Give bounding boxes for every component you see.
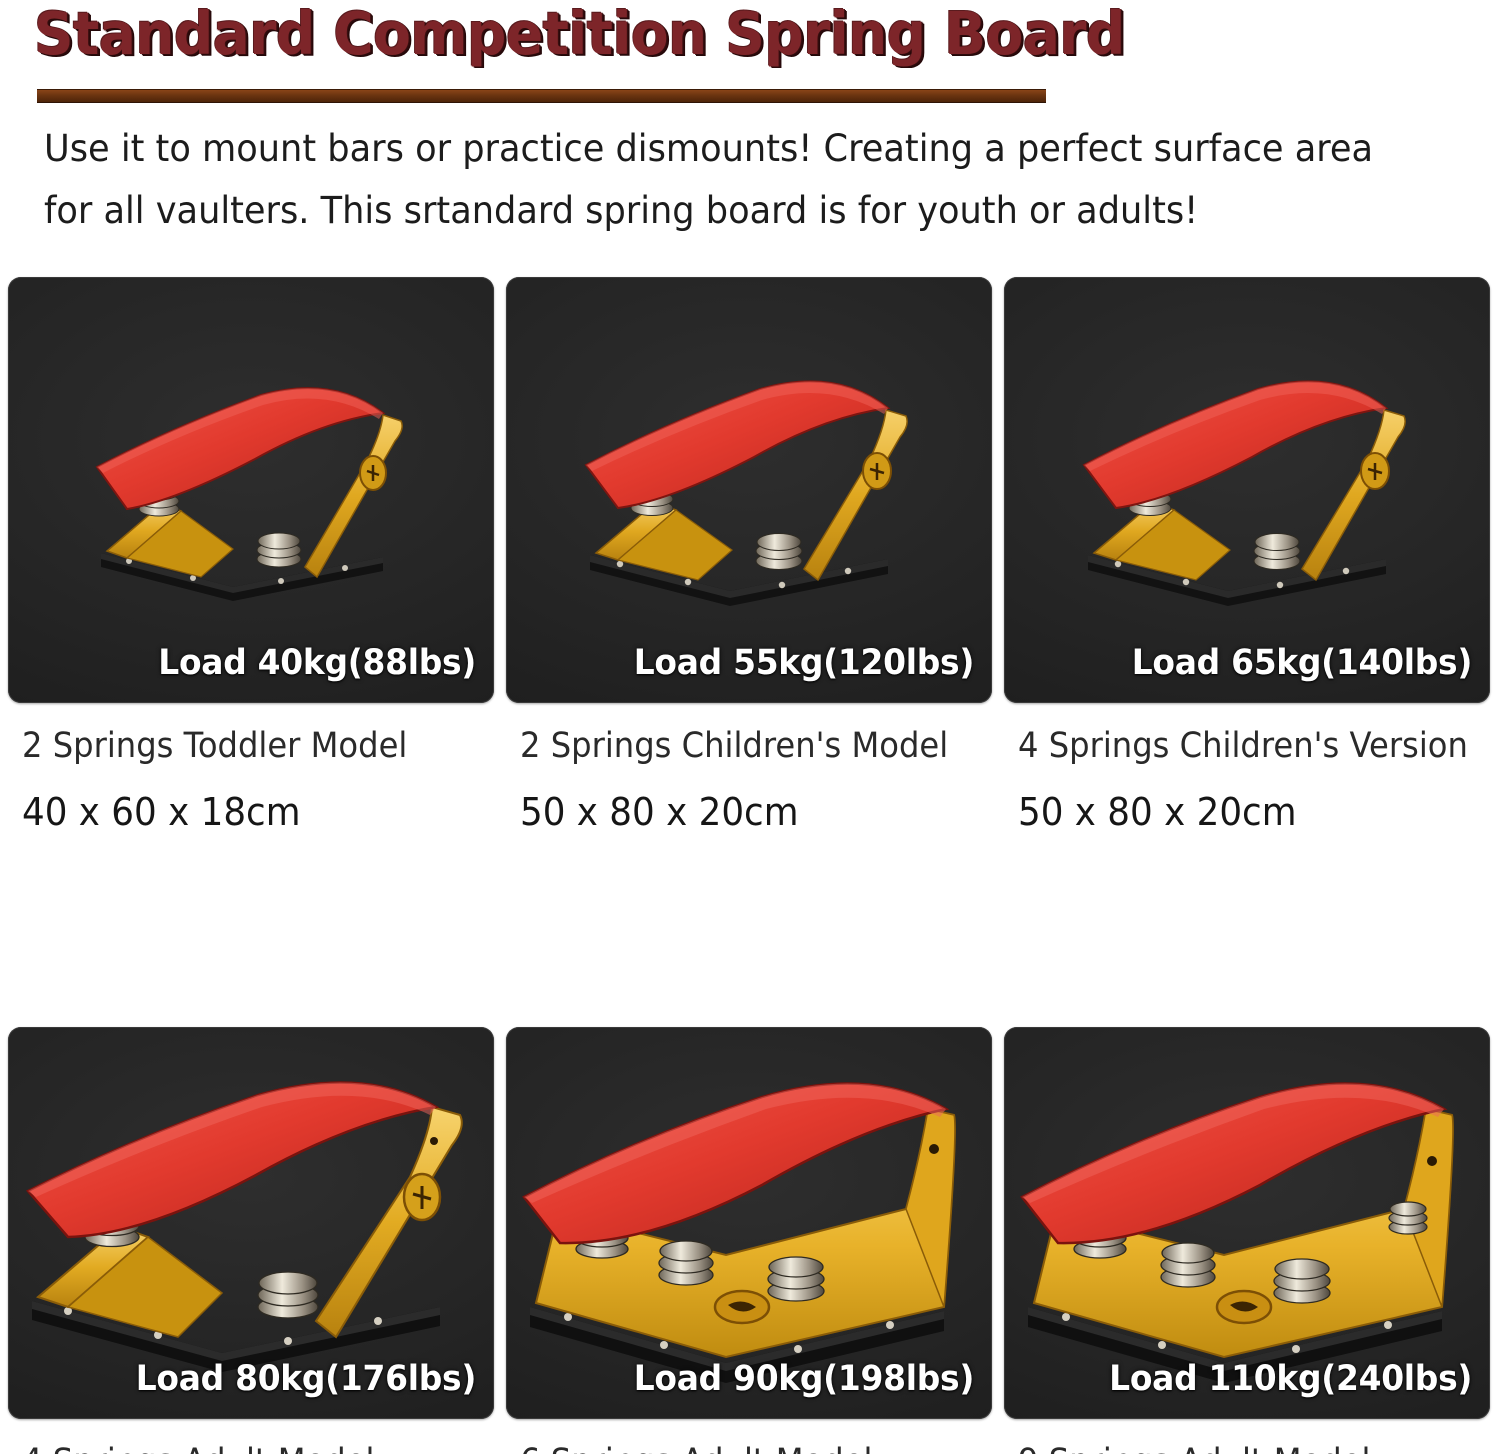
product-card-4[interactable]: Load 80kg(176lbs): [8, 1027, 494, 1419]
product-card-3[interactable]: Load 65kg(140lbs): [1004, 277, 1490, 703]
subtitle-line-1: Use it to mount bars or practice dismoun…: [44, 118, 1403, 180]
product-cell-4: Load 80kg(176lbs) 4 Springs Adult Model …: [8, 1027, 494, 1454]
product-caption-3: 4 Springs Children's Version 50 x 80 x 2…: [1004, 721, 1490, 837]
page-title: Standard Competition Spring Board: [34, 0, 1125, 72]
spring-board-image-4: [16, 1079, 486, 1389]
load-capacity-label-5: Load 90kg(198lbs): [634, 1359, 974, 1399]
dimensions-3: 50 x 80 x 20cm: [1018, 787, 1462, 837]
product-cell-1: Load 40kg(88lbs) 2 Springs Toddler Model…: [8, 277, 494, 837]
product-card-1[interactable]: Load 40kg(88lbs): [8, 277, 494, 703]
product-caption-5: 6 Springs Adult Model 120 x 60 x 26cm: [506, 1437, 992, 1454]
model-name-6: 9 Springs Adult Model: [1018, 1437, 1452, 1454]
dimensions-1: 40 x 60 x 18cm: [22, 787, 466, 837]
load-capacity-label-2: Load 55kg(120lbs): [634, 643, 974, 683]
model-name-4: 4 Springs Adult Model: [22, 1437, 456, 1454]
product-cell-2: Load 55kg(120lbs) 2 Springs Children's M…: [506, 277, 992, 837]
load-capacity-label-6: Load 110kg(240lbs): [1109, 1359, 1472, 1399]
load-capacity-label-3: Load 65kg(140lbs): [1132, 643, 1472, 683]
model-name-3: 4 Springs Children's Version: [1018, 721, 1452, 771]
model-name-5: 6 Springs Adult Model: [520, 1437, 954, 1454]
product-caption-1: 2 Springs Toddler Model 40 x 60 x 18cm: [8, 721, 494, 837]
product-row-top: Load 40kg(88lbs) 2 Springs Toddler Model…: [8, 277, 1492, 837]
product-caption-4: 4 Springs Adult Model 120 x 60 x 26cm: [8, 1437, 494, 1454]
product-cell-5: Load 90kg(198lbs) 6 Springs Adult Model …: [506, 1027, 992, 1454]
product-caption-2: 2 Springs Children's Model 50 x 80 x 20c…: [506, 721, 992, 837]
product-card-2[interactable]: Load 55kg(120lbs): [506, 277, 992, 703]
dimensions-2: 50 x 80 x 20cm: [520, 787, 964, 837]
load-capacity-label-1: Load 40kg(88lbs): [158, 643, 476, 683]
spring-board-image-5: [514, 1079, 984, 1389]
model-name-1: 2 Springs Toddler Model: [22, 721, 456, 771]
spring-board-image-2: [574, 375, 924, 625]
spring-board-image-3: [1072, 375, 1422, 625]
spring-board-image-6: [1012, 1079, 1482, 1389]
spring-board-image-1: [83, 381, 419, 621]
product-grid: Load 40kg(88lbs) 2 Springs Toddler Model…: [8, 277, 1492, 1454]
product-cell-6: Load 110kg(240lbs) 9 Springs Adult Model…: [1004, 1027, 1490, 1454]
product-card-6[interactable]: Load 110kg(240lbs): [1004, 1027, 1490, 1419]
product-cell-3: Load 65kg(140lbs) 4 Springs Children's V…: [1004, 277, 1490, 837]
product-row-bottom: Load 80kg(176lbs) 4 Springs Adult Model …: [8, 1027, 1492, 1454]
load-capacity-label-4: Load 80kg(176lbs): [136, 1359, 476, 1399]
subtitle: Use it to mount bars or practice dismoun…: [44, 118, 1403, 242]
product-caption-6: 9 Springs Adult Model 120 x 60 x 26cm: [1004, 1437, 1490, 1454]
model-name-2: 2 Springs Children's Model: [520, 721, 954, 771]
product-card-5[interactable]: Load 90kg(198lbs): [506, 1027, 992, 1419]
infographic-page: Standard Competition Spring Board Use it…: [0, 0, 1500, 1454]
title-divider: [37, 89, 1046, 103]
subtitle-line-2: for all vaulters. This srtandard spring …: [44, 180, 1403, 242]
